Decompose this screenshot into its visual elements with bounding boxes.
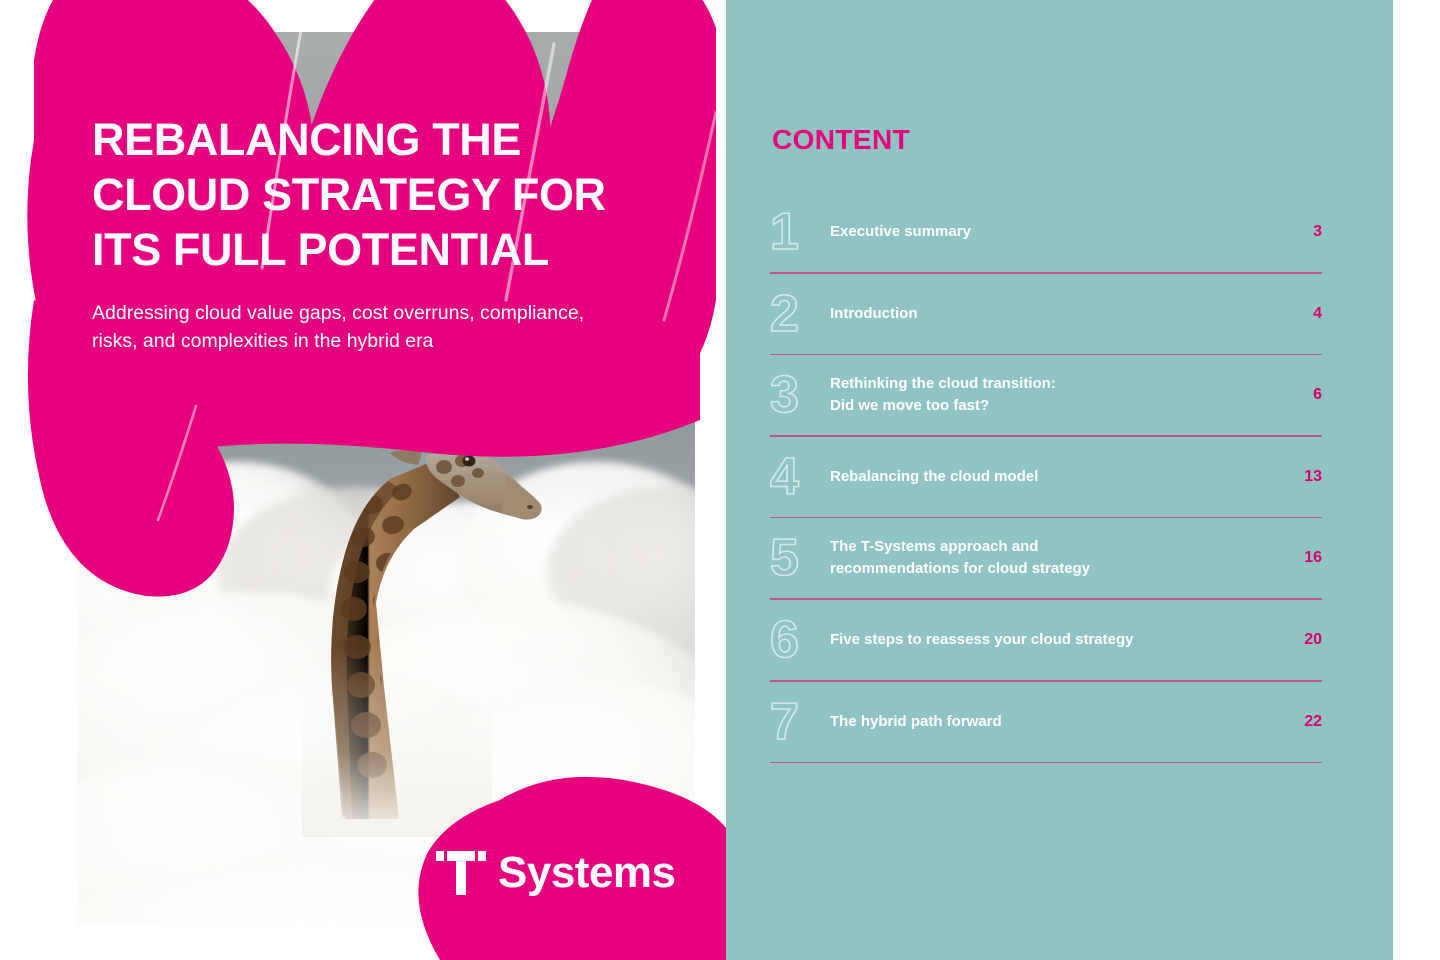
toc-entry-number: 6 xyxy=(770,614,828,666)
toc-entry-label: The T-Systems approach and recommendatio… xyxy=(828,536,1276,580)
toc-entry-number: 4 xyxy=(770,451,828,503)
toc-entry-page-number: 4 xyxy=(1276,305,1322,323)
toc-entry-label: Five steps to reassess your cloud strate… xyxy=(828,629,1276,651)
document-page: REBALANCING THE CLOUD STRATEGY FOR ITS F… xyxy=(0,0,1440,960)
toc-entry[interactable]: 6Five steps to reassess your cloud strat… xyxy=(770,600,1322,680)
toc-entry-page-number: 3 xyxy=(1276,223,1322,241)
toc-heading: CONTENT xyxy=(772,124,910,156)
toc-entry[interactable]: 7The hybrid path forward22 xyxy=(770,682,1322,762)
title-block: REBALANCING THE CLOUD STRATEGY FOR ITS F… xyxy=(92,112,692,355)
toc-entry-page-number: 6 xyxy=(1276,386,1322,404)
toc-entry-number: 3 xyxy=(770,369,828,421)
cover-panel: REBALANCING THE CLOUD STRATEGY FOR ITS F… xyxy=(0,0,726,960)
t-mark-icon xyxy=(438,851,484,895)
toc-entry-label: Executive summary xyxy=(828,221,1276,243)
page-title: REBALANCING THE CLOUD STRATEGY FOR ITS F… xyxy=(92,112,692,277)
toc-entry-page-number: 22 xyxy=(1276,713,1322,731)
logo-wordmark: Systems xyxy=(498,851,676,895)
toc-entry-number: 2 xyxy=(770,288,828,340)
toc-entry-label: The hybrid path forward xyxy=(828,711,1276,733)
toc-entry-page-number: 16 xyxy=(1276,549,1322,567)
toc-entry-page-number: 13 xyxy=(1276,468,1322,486)
toc-entry-label: Rebalancing the cloud model xyxy=(828,466,1276,488)
toc-entry-number: 5 xyxy=(770,532,828,584)
t-mark-dot-right xyxy=(478,851,486,861)
t-systems-logo: Systems xyxy=(396,793,726,960)
table-of-contents-panel: CONTENT 1Executive summary32Introduction… xyxy=(726,0,1393,960)
toc-list: 1Executive summary32Introduction43Rethin… xyxy=(770,192,1322,763)
page-subtitle: Addressing cloud value gaps, cost overru… xyxy=(92,299,692,355)
toc-entry-number: 7 xyxy=(770,696,828,748)
toc-entry-page-number: 20 xyxy=(1276,631,1322,649)
t-mark-dot-left xyxy=(436,851,444,861)
toc-entry[interactable]: 4Rebalancing the cloud model13 xyxy=(770,437,1322,517)
toc-entry-label: Introduction xyxy=(828,303,1276,325)
logo-lockup: Systems xyxy=(438,851,676,895)
toc-divider xyxy=(770,762,1322,764)
toc-entry-label: Rethinking the cloud transition: Did we … xyxy=(828,373,1276,417)
toc-entry[interactable]: 1Executive summary3 xyxy=(770,192,1322,272)
toc-entry[interactable]: 3Rethinking the cloud transition: Did we… xyxy=(770,355,1322,435)
t-mark-stem xyxy=(456,851,466,895)
toc-entry[interactable]: 5The T-Systems approach and recommendati… xyxy=(770,518,1322,598)
toc-entry[interactable]: 2Introduction4 xyxy=(770,274,1322,354)
toc-entry-number: 1 xyxy=(770,206,828,258)
